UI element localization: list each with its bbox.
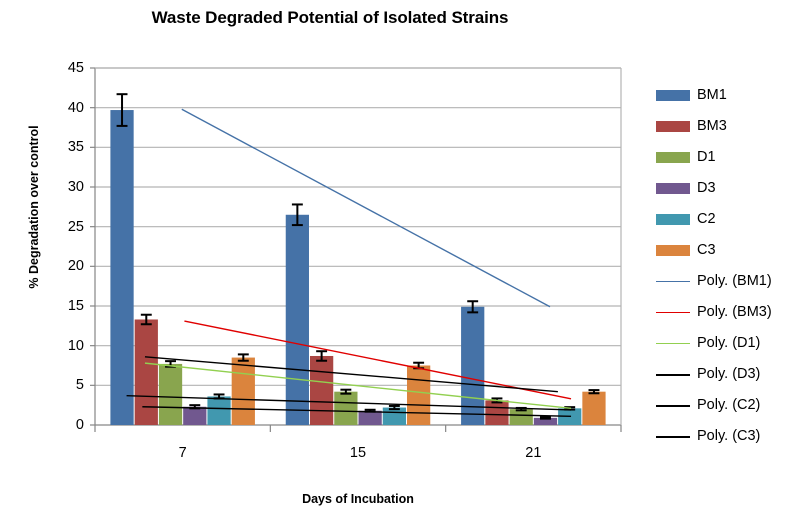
legend-line-swatch xyxy=(656,307,690,318)
legend-item-c3[interactable]: C3 xyxy=(656,235,800,266)
legend-label: Poly. (D1) xyxy=(697,336,760,351)
bar[interactable] xyxy=(110,110,133,425)
bar[interactable] xyxy=(334,392,357,425)
trendline xyxy=(182,109,550,307)
legend-label: Poly. (C3) xyxy=(697,429,760,444)
legend-item-trendline-4[interactable]: Poly. (C2) xyxy=(656,390,800,421)
legend-label: Poly. (BM3) xyxy=(697,305,772,320)
legend-color-swatch xyxy=(656,121,690,132)
bar[interactable] xyxy=(485,400,508,425)
legend-line-glyph xyxy=(656,281,690,282)
legend-line-swatch xyxy=(656,369,690,380)
legend-label: Poly. (D3) xyxy=(697,367,760,382)
legend-label: D3 xyxy=(697,181,716,196)
legend-line-swatch xyxy=(656,276,690,287)
bar[interactable] xyxy=(510,409,533,425)
bar[interactable] xyxy=(286,215,309,425)
legend-label: C2 xyxy=(697,212,716,227)
legend-item-trendline-0[interactable]: Poly. (BM1) xyxy=(656,266,800,297)
legend-label: BM1 xyxy=(697,88,727,103)
bar[interactable] xyxy=(159,364,182,425)
legend-item-bm1[interactable]: BM1 xyxy=(656,80,800,111)
legend-item-d1[interactable]: D1 xyxy=(656,142,800,173)
bar[interactable] xyxy=(232,358,255,425)
legend-label: C3 xyxy=(697,243,716,258)
legend-color-swatch xyxy=(656,245,690,256)
legend-item-trendline-2[interactable]: Poly. (D1) xyxy=(656,328,800,359)
bar[interactable] xyxy=(207,396,230,425)
legend-color-swatch xyxy=(656,183,690,194)
chart-legend: BM1BM3D1D3C2C3Poly. (BM1)Poly. (BM3)Poly… xyxy=(656,80,800,452)
legend-line-glyph xyxy=(656,343,690,344)
bar-group xyxy=(110,110,605,425)
bar[interactable] xyxy=(183,407,206,425)
legend-item-c2[interactable]: C2 xyxy=(656,204,800,235)
legend-label: BM3 xyxy=(697,119,727,134)
chart-container: Waste Degraded Potential of Isolated Str… xyxy=(0,0,800,527)
legend-line-swatch xyxy=(656,338,690,349)
bar[interactable] xyxy=(383,408,406,425)
bar[interactable] xyxy=(582,392,605,425)
legend-item-trendline-3[interactable]: Poly. (D3) xyxy=(656,359,800,390)
bar[interactable] xyxy=(359,411,382,425)
bar[interactable] xyxy=(135,319,158,425)
legend-color-swatch xyxy=(656,214,690,225)
legend-item-d3[interactable]: D3 xyxy=(656,173,800,204)
legend-line-glyph xyxy=(656,312,690,313)
legend-label: Poly. (C2) xyxy=(697,398,760,413)
legend-label: D1 xyxy=(697,150,716,165)
legend-color-swatch xyxy=(656,90,690,101)
legend-label: Poly. (BM1) xyxy=(697,274,772,289)
legend-item-bm3[interactable]: BM3 xyxy=(656,111,800,142)
legend-item-trendline-1[interactable]: Poly. (BM3) xyxy=(656,297,800,328)
legend-line-swatch xyxy=(656,431,690,442)
legend-line-glyph xyxy=(656,436,690,438)
error-bars xyxy=(117,94,600,418)
legend-color-swatch xyxy=(656,152,690,163)
legend-line-swatch xyxy=(656,400,690,411)
legend-item-trendline-5[interactable]: Poly. (C3) xyxy=(656,421,800,452)
legend-line-glyph xyxy=(656,405,690,407)
trendlines xyxy=(127,109,571,416)
bar[interactable] xyxy=(407,366,430,426)
legend-line-glyph xyxy=(656,374,690,376)
bar[interactable] xyxy=(310,356,333,425)
trendline xyxy=(145,357,558,392)
